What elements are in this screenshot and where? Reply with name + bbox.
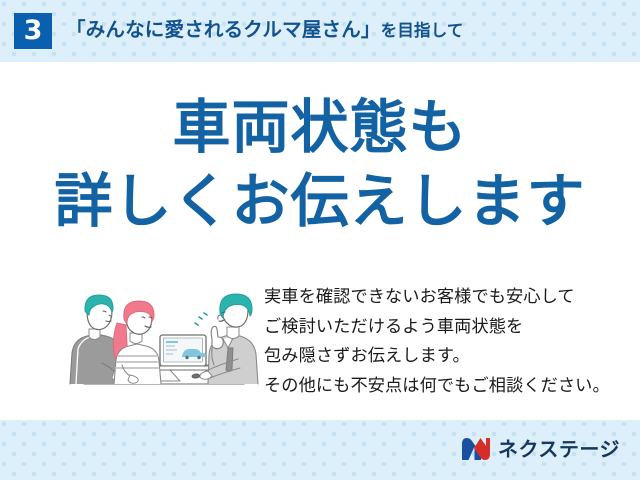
nextage-logo-text: ネクステージ (498, 439, 620, 459)
header-title-tail: を目指して (381, 22, 464, 40)
step-number-badge: 3 (14, 13, 52, 49)
headline-line-1: 車両状態も (0, 96, 640, 158)
content-card: 車両状態も 詳しくお伝えします (0, 62, 640, 420)
consultation-illustration (62, 277, 267, 397)
header-title: 「みんなに愛されるクルマ屋さん」を目指して (66, 21, 464, 41)
nextage-n-logo-icon (461, 437, 491, 461)
body-copy: 実車を確認できないお客様でも安心して ご検討いただけるよう車両状態を 包み隠さず… (264, 282, 632, 400)
headline-line-2: 詳しくお伝えします (0, 170, 640, 232)
banner-header: 3 「みんなに愛されるクルマ屋さん」を目指して (0, 0, 640, 62)
banner-footer: ネクステージ (0, 420, 640, 480)
body-copy-line: その他にも不安点は何でもご相談ください。 (264, 371, 632, 401)
body-copy-line: 実車を確認できないお客様でも安心して (264, 282, 632, 312)
promo-banner: 3 「みんなに愛されるクルマ屋さん」を目指して 車両状態も 詳しくお伝えします (0, 0, 640, 480)
body-copy-line: 包み隠さずお伝えします。 (264, 341, 632, 371)
nextage-logo: ネクステージ (461, 432, 620, 466)
header-title-main: 「みんなに愛されるクルマ屋さん」 (66, 19, 381, 41)
body-copy-line: ご検討いただけるよう車両状態を (264, 312, 632, 342)
